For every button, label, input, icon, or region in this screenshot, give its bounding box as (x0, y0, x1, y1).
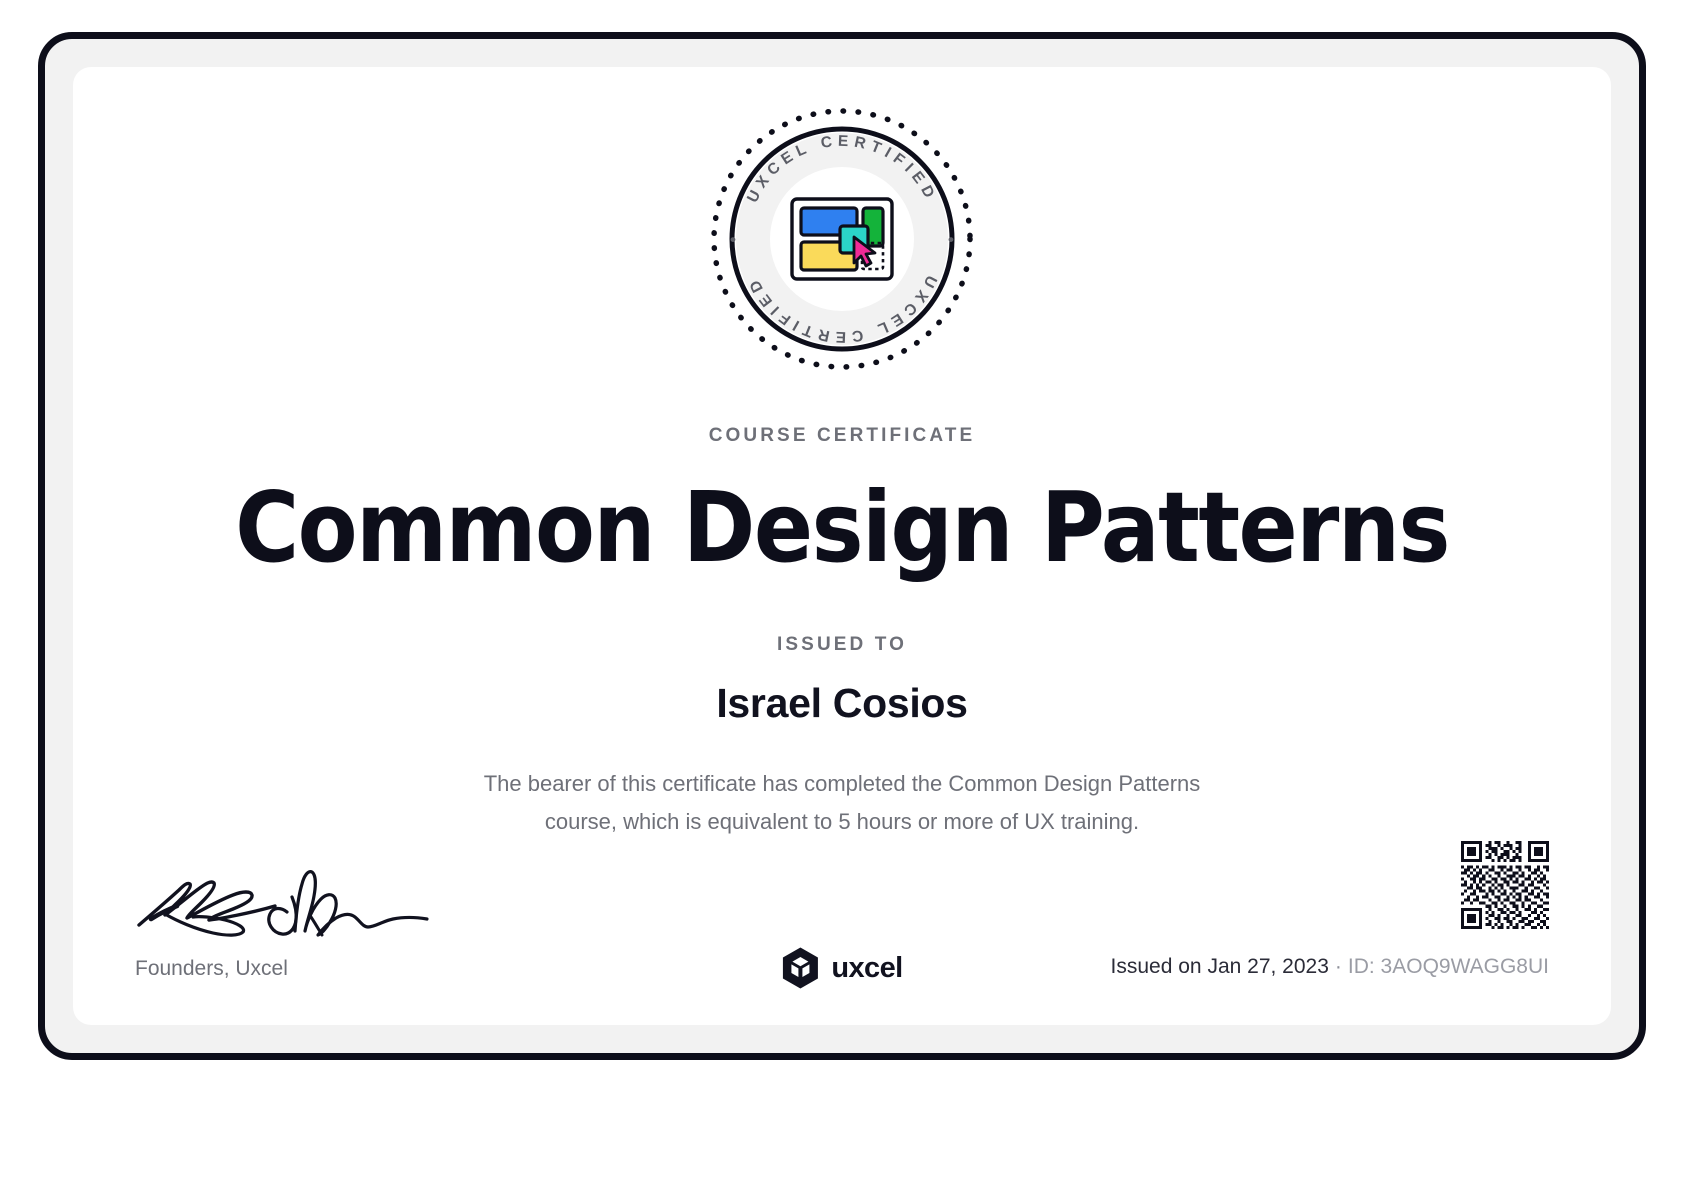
design-patterns-icon (792, 199, 892, 279)
seal-bullet-left: • (730, 230, 736, 249)
issue-meta-separator: · (1329, 955, 1348, 978)
certificate-frame: UXCEL CERTIFIED UXCEL CERTIFIED • • (38, 32, 1646, 1060)
course-title: Common Design Patterns (73, 479, 1611, 578)
signature-two (269, 872, 427, 935)
uxcel-wordmark: uxcel (831, 952, 902, 985)
founder-signatures (135, 857, 435, 939)
certificate-card: UXCEL CERTIFIED UXCEL CERTIFIED • • (73, 67, 1611, 1025)
signature-one (139, 882, 275, 935)
uxcel-brand-lockup: uxcel (781, 947, 902, 989)
issued-to-label: ISSUED TO (73, 634, 1611, 656)
seal-bullet-right: • (948, 230, 954, 249)
uxcel-certified-seal: UXCEL CERTIFIED UXCEL CERTIFIED • • (706, 103, 978, 375)
certificate-kicker: COURSE CERTIFICATE (73, 425, 1611, 447)
founders-label: Founders, Uxcel (135, 957, 288, 981)
uxcel-cube-logo (781, 947, 819, 989)
recipient-name: Israel Cosios (73, 680, 1611, 727)
issue-date: Issued on Jan 27, 2023 (1111, 955, 1329, 978)
issue-meta: Issued on Jan 27, 2023·ID: 3AOQ9WAGG8UI (1111, 955, 1549, 979)
verification-qr-code[interactable] (1461, 841, 1549, 929)
certificate-id: ID: 3AOQ9WAGG8UI (1348, 955, 1549, 978)
certificate-body-text: The bearer of this certificate has compl… (452, 765, 1232, 841)
